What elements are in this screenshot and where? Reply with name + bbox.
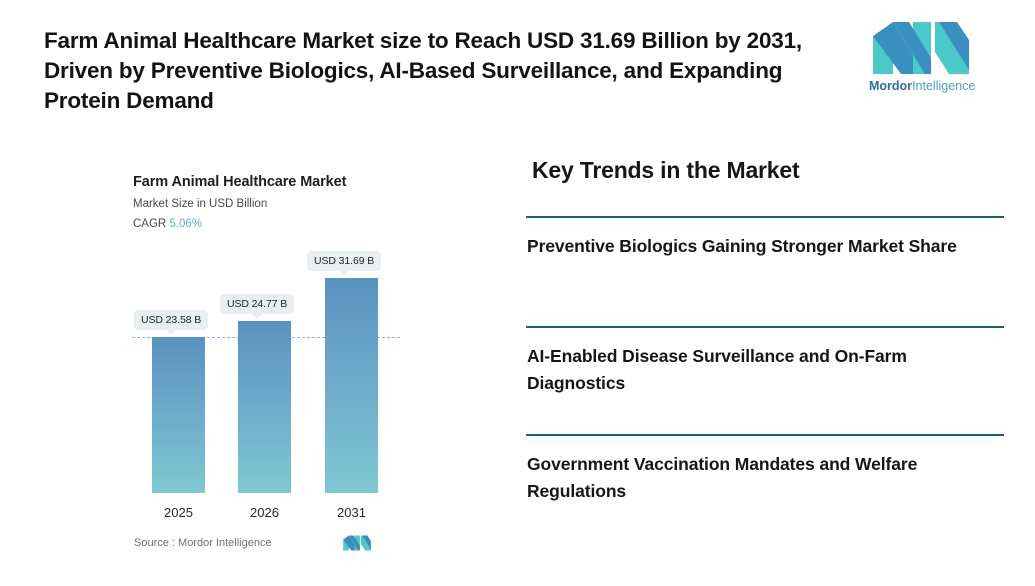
bar-value-label-2025: USD 23.58 B (134, 310, 208, 330)
brand-wordmark: MordorIntelligence (869, 78, 973, 94)
key-trends-title: Key Trends in the Market (532, 157, 799, 184)
key-trends-panel: Key Trends in the Market Preventive Biol… (526, 150, 1004, 550)
bar-value-label-2031: USD 31.69 B (307, 251, 381, 271)
x-axis-label-2026: 2026 (238, 505, 291, 520)
trend-item-label: AI-Enabled Disease Surveillance and On-F… (526, 343, 976, 397)
trend-item-label: Government Vaccination Mandates and Welf… (526, 451, 976, 505)
trend-item-label: Preventive Biologics Gaining Stronger Ma… (526, 233, 976, 260)
page-title: Farm Animal Healthcare Market size to Re… (44, 26, 844, 116)
mordor-intelligence-mark-icon-small (342, 534, 372, 552)
infographic-page: Farm Animal Healthcare Market size to Re… (0, 0, 1035, 586)
bar-2031 (325, 278, 378, 493)
page-header: Farm Animal Healthcare Market size to Re… (0, 0, 1035, 130)
brand-word-mordor: Mordor (869, 79, 912, 93)
trend-divider (526, 434, 1004, 436)
trend-item: Government Vaccination Mandates and Welf… (526, 434, 1004, 505)
trend-divider (526, 216, 1004, 218)
chart-panel: Farm Animal Healthcare Market Market Siz… (96, 140, 516, 570)
bar-2026 (238, 321, 291, 493)
brand-logo: MordorIntelligence (869, 22, 973, 98)
trend-item: AI-Enabled Disease Surveillance and On-F… (526, 326, 1004, 397)
trend-item: Preventive Biologics Gaining Stronger Ma… (526, 216, 1004, 260)
brand-word-intelligence: Intelligence (912, 79, 975, 93)
source-text: Source : Mordor Intelligence (134, 537, 272, 549)
chart-source-row: Source : Mordor Intelligence (134, 534, 454, 556)
bar-value-label-2026: USD 24.77 B (220, 294, 294, 314)
bar-2025 (152, 337, 205, 493)
source-label: Source : (134, 537, 175, 549)
source-name: Mordor Intelligence (178, 537, 272, 549)
x-axis-label-2031: 2031 (325, 505, 378, 520)
trend-divider (526, 326, 1004, 328)
mordor-intelligence-mark-icon (869, 22, 973, 74)
x-axis-label-2025: 2025 (152, 505, 205, 520)
bar-chart-plot-area: USD 23.58 B USD 24.77 B USD 31.69 B 2025… (96, 140, 516, 570)
